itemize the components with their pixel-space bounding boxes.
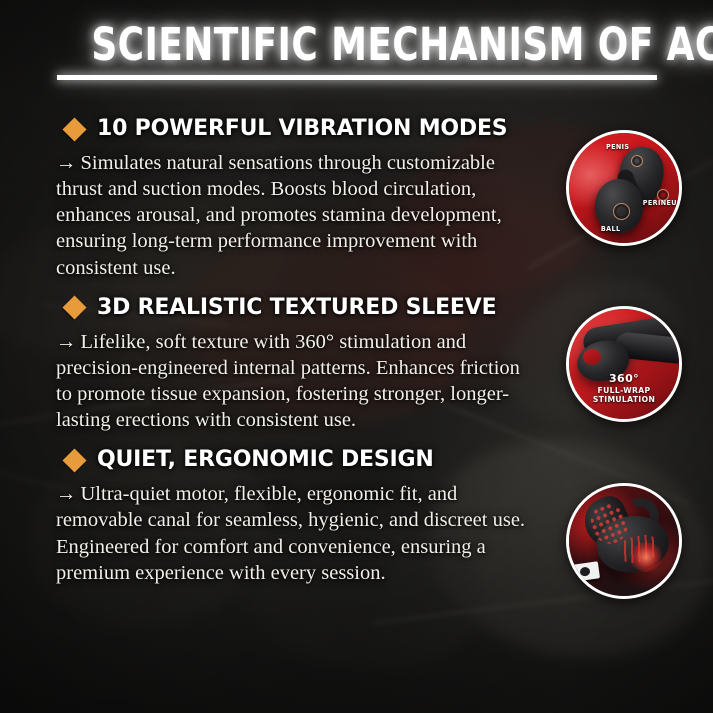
feature-title: QUIET, ERGONOMIC DESIGN: [97, 447, 434, 473]
feature-description-text: Ultra-quiet motor, flexible, ergonomic f…: [56, 483, 525, 583]
target-ring-icon: [631, 155, 643, 167]
feature-title: 3D REALISTIC TEXTURED SLEEVE: [97, 295, 496, 321]
zone-label-ball: BALL: [601, 225, 621, 233]
caption-line-3: STIMULATION: [572, 395, 677, 405]
red-glow-effect: [629, 542, 663, 572]
diamond-bullet-icon: [62, 117, 86, 141]
product-feature-poster: SCIENTIFIC MECHANISM OF ACTION 10 POWERF…: [0, 0, 713, 713]
stimulation-zones-photo: PENIS BALL PERINEUM: [566, 130, 682, 246]
arrow-icon: →: [56, 152, 77, 174]
feature-description-text: Simulates natural sensations through cus…: [56, 152, 502, 278]
poster-header: SCIENTIFIC MECHANISM OF ACTION: [0, 22, 713, 80]
zone-label-penis: PENIS: [606, 143, 629, 151]
feature-description-text: Lifelike, soft texture with 360° stimula…: [56, 331, 520, 431]
diamond-bullet-icon: [62, 448, 86, 472]
feature-title: 10 POWERFUL VIBRATION MODES: [97, 116, 507, 142]
ergonomic-design-photo: [566, 483, 682, 599]
zone-label-perineum: PERINEUM: [643, 199, 682, 207]
title-underline: [57, 75, 657, 80]
page-title: SCIENTIFIC MECHANISM OF ACTION: [91, 22, 713, 69]
caption-line-2: FULL-WRAP: [572, 386, 677, 396]
full-wrap-sleeve-photo: 360° FULL-WRAP STIMULATION: [566, 306, 682, 422]
diamond-bullet-icon: [62, 296, 86, 320]
remote-badge-icon: [572, 561, 600, 581]
arrow-icon: →: [56, 483, 77, 505]
feature-heading-row: QUIET, ERGONOMIC DESIGN: [0, 447, 713, 473]
sleeve-notch-shape: [583, 349, 601, 365]
arrow-icon: →: [56, 331, 77, 353]
target-ring-icon: [613, 203, 630, 220]
caption-degrees: 360°: [569, 372, 679, 385]
full-wrap-caption: 360° FULL-WRAP STIMULATION: [569, 372, 679, 405]
